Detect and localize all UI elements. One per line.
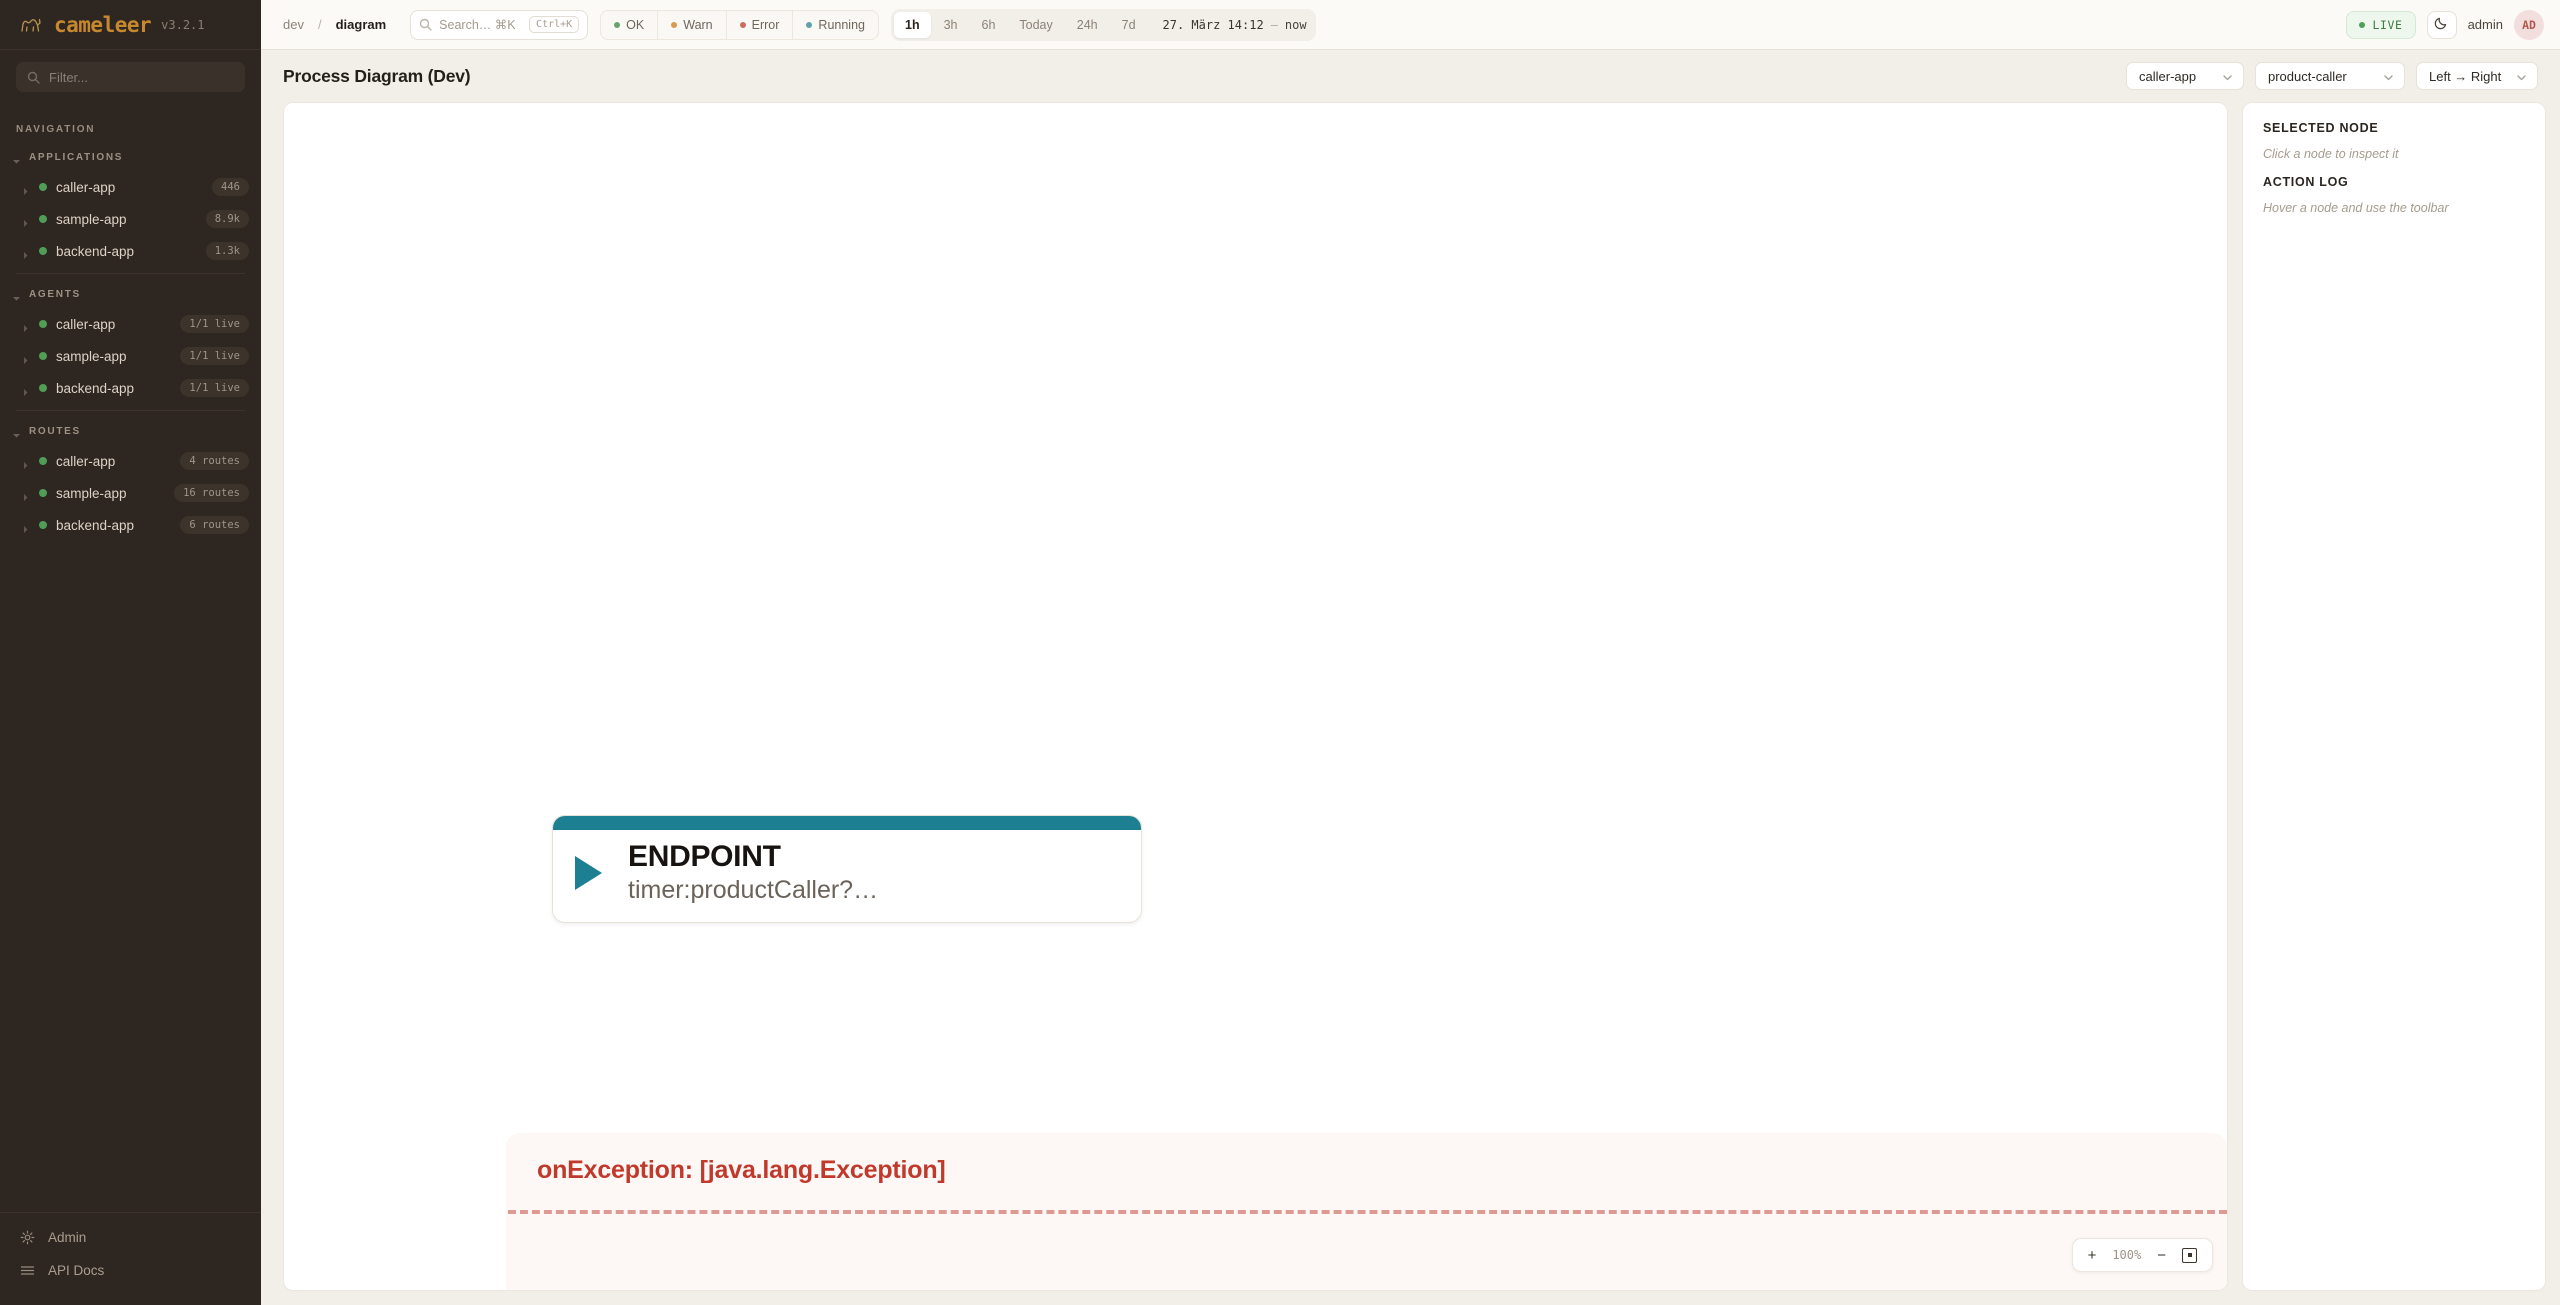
search-icon bbox=[419, 18, 432, 31]
node-accent-bar bbox=[553, 816, 1141, 830]
application-select-value: caller-app bbox=[2139, 69, 2196, 84]
node-kind-label: ENDPOINT bbox=[628, 840, 878, 873]
fit-view-icon[interactable] bbox=[2182, 1248, 2197, 1263]
chevron-down-icon bbox=[2222, 71, 2233, 82]
status-filter-warn[interactable]: Warn bbox=[658, 11, 726, 39]
sidebar-group-applications[interactable]: APPLICATIONS bbox=[0, 143, 261, 171]
sidebar-item-badge: 6 routes bbox=[180, 516, 249, 534]
time-range-group: 1h 3h 6h Today 24h 7d 27. März 14:12 — n… bbox=[891, 9, 1316, 41]
sidebar-nav: NAVIGATION APPLICATIONS caller-app 446 s… bbox=[0, 106, 261, 1212]
search-shortcut-badge: Ctrl+K bbox=[529, 16, 579, 33]
breadcrumb-separator: / bbox=[318, 17, 322, 32]
live-label: LIVE bbox=[2372, 18, 2402, 32]
status-dot bbox=[39, 489, 47, 497]
sidebar: cameleer v3.2.1 NAVIGATION APPLICATIONS … bbox=[0, 0, 261, 1305]
sidebar-item-agent-caller-app[interactable]: caller-app 1/1 live bbox=[0, 308, 261, 340]
page-title: Process Diagram (Dev) bbox=[283, 66, 470, 87]
chevron-right-icon bbox=[21, 384, 30, 393]
live-status-badge[interactable]: LIVE bbox=[2346, 11, 2415, 39]
time-range-24h[interactable]: 24h bbox=[1066, 12, 1109, 38]
sidebar-item-agent-sample-app[interactable]: sample-app 1/1 live bbox=[0, 340, 261, 372]
time-range-today[interactable]: Today bbox=[1008, 12, 1063, 38]
page-title-row: Process Diagram (Dev) caller-app product… bbox=[261, 50, 2560, 102]
sidebar-item-badge: 1/1 live bbox=[180, 347, 249, 365]
sidebar-item-api-docs[interactable]: API Docs bbox=[0, 1254, 261, 1287]
time-range-display[interactable]: 27. März 14:12 — now bbox=[1149, 18, 1313, 32]
status-dot bbox=[39, 215, 47, 223]
chevron-down-icon bbox=[12, 427, 21, 436]
time-range-to: now bbox=[1285, 18, 1307, 32]
chevron-down-icon bbox=[12, 153, 21, 162]
nav-section-title: NAVIGATION bbox=[0, 114, 261, 143]
time-range-6h[interactable]: 6h bbox=[971, 12, 1007, 38]
chevron-right-icon bbox=[21, 320, 30, 329]
status-filter-running[interactable]: Running bbox=[793, 11, 878, 39]
sidebar-item-badge: 1/1 live bbox=[180, 315, 249, 333]
sidebar-item-route-backend-app[interactable]: backend-app 6 routes bbox=[0, 509, 261, 541]
sidebar-item-admin[interactable]: Admin bbox=[0, 1221, 261, 1254]
status-filter-label: Running bbox=[818, 18, 865, 32]
sidebar-item-label: sample-app bbox=[56, 212, 197, 227]
status-dot bbox=[39, 521, 47, 529]
action-log-title: ACTION LOG bbox=[2263, 175, 2525, 189]
status-dot bbox=[39, 320, 47, 328]
status-dot bbox=[2359, 22, 2365, 28]
route-select-value: product-caller bbox=[2268, 69, 2347, 84]
user-name: admin bbox=[2468, 17, 2503, 32]
theme-toggle-button[interactable] bbox=[2427, 11, 2457, 39]
sidebar-item-label: caller-app bbox=[56, 317, 171, 332]
diagram-canvas[interactable]: ENDPOINT timer:productCaller?… onExcepti… bbox=[283, 102, 2228, 1291]
status-dot bbox=[740, 22, 746, 28]
chevron-right-icon bbox=[21, 489, 30, 498]
sidebar-item-label: sample-app bbox=[56, 486, 165, 501]
selected-node-title: SELECTED NODE bbox=[2263, 121, 2525, 135]
sidebar-item-route-sample-app[interactable]: sample-app 16 routes bbox=[0, 477, 261, 509]
status-dot bbox=[39, 183, 47, 191]
chevron-right-icon bbox=[21, 215, 30, 224]
sidebar-footer: Admin API Docs bbox=[0, 1212, 261, 1305]
chevron-down-icon bbox=[2383, 71, 2394, 82]
status-filter-label: Error bbox=[752, 18, 780, 32]
sidebar-item-badge: 8.9k bbox=[206, 210, 249, 228]
selected-node-hint: Click a node to inspect it bbox=[2263, 147, 2525, 161]
chevron-right-icon bbox=[21, 247, 30, 256]
exception-divider bbox=[508, 1210, 2227, 1214]
sidebar-item-label: caller-app bbox=[56, 454, 171, 469]
sidebar-item-label: backend-app bbox=[56, 518, 171, 533]
sidebar-group-agents[interactable]: AGENTS bbox=[0, 280, 261, 308]
sidebar-filter[interactable] bbox=[16, 62, 245, 92]
status-dot bbox=[806, 22, 812, 28]
group-label: APPLICATIONS bbox=[29, 152, 123, 163]
sidebar-item-app-sample-app[interactable]: sample-app 8.9k bbox=[0, 203, 261, 235]
sidebar-item-app-caller-app[interactable]: caller-app 446 bbox=[0, 171, 261, 203]
filter-input[interactable] bbox=[49, 70, 234, 85]
sidebar-item-label: backend-app bbox=[56, 244, 197, 259]
time-range-dash: — bbox=[1271, 18, 1278, 32]
sidebar-item-badge: 1.3k bbox=[206, 242, 249, 260]
chevron-right-icon bbox=[21, 457, 30, 466]
sidebar-item-label: backend-app bbox=[56, 381, 171, 396]
divider bbox=[0, 1212, 261, 1213]
search-icon bbox=[27, 71, 40, 84]
moon-icon bbox=[2434, 15, 2449, 35]
chevron-down-icon bbox=[2516, 71, 2527, 82]
status-filter-group: OK Warn Error Running bbox=[600, 10, 879, 40]
exception-label: onException: [java.lang.Exception] bbox=[537, 1156, 946, 1185]
top-bar: dev / diagram Ctrl+K OK Warn Erro bbox=[261, 0, 2560, 50]
top-bar-right: LIVE admin AD bbox=[2346, 10, 2544, 40]
camel-icon bbox=[18, 12, 44, 38]
breadcrumb-root[interactable]: dev bbox=[283, 17, 304, 32]
content-area: ENDPOINT timer:productCaller?… onExcepti… bbox=[261, 102, 2560, 1305]
inspector-panel: SELECTED NODE Click a node to inspect it… bbox=[2242, 102, 2546, 1291]
time-range-1h[interactable]: 1h bbox=[894, 12, 931, 38]
divider bbox=[16, 410, 245, 411]
status-filter-ok[interactable]: OK bbox=[601, 11, 658, 39]
status-dot bbox=[39, 352, 47, 360]
sidebar-item-route-caller-app[interactable]: caller-app 4 routes bbox=[0, 445, 261, 477]
sidebar-item-badge: 1/1 live bbox=[180, 379, 249, 397]
node-uri-label: timer:productCaller?… bbox=[628, 875, 878, 906]
route-select[interactable]: product-caller bbox=[2255, 62, 2405, 90]
status-filter-label: OK bbox=[626, 18, 644, 32]
play-icon bbox=[575, 856, 602, 890]
time-range-from: 27. März 14:12 bbox=[1163, 18, 1264, 32]
diagram-node-endpoint[interactable]: ENDPOINT timer:productCaller?… bbox=[552, 815, 1142, 923]
breadcrumb-current: diagram bbox=[336, 17, 387, 32]
search-input[interactable] bbox=[439, 18, 522, 32]
gear-icon bbox=[20, 1230, 35, 1245]
zoom-out-button[interactable]: − bbox=[2157, 1248, 2166, 1263]
sidebar-group-routes[interactable]: ROUTES bbox=[0, 417, 261, 445]
chevron-down-icon bbox=[12, 290, 21, 299]
status-filter-error[interactable]: Error bbox=[727, 11, 794, 39]
status-dot bbox=[671, 22, 677, 28]
sidebar-footer-label: API Docs bbox=[48, 1263, 104, 1278]
zoom-in-button[interactable]: + bbox=[2088, 1248, 2097, 1263]
brand-header[interactable]: cameleer v3.2.1 bbox=[0, 0, 261, 50]
sidebar-item-badge: 16 routes bbox=[174, 484, 249, 502]
status-dot bbox=[39, 247, 47, 255]
chevron-right-icon bbox=[21, 183, 30, 192]
sidebar-filter-wrap bbox=[0, 50, 261, 106]
sidebar-item-label: sample-app bbox=[56, 349, 171, 364]
sidebar-item-agent-backend-app[interactable]: backend-app 1/1 live bbox=[0, 372, 261, 404]
chevron-right-icon bbox=[21, 352, 30, 361]
application-select[interactable]: caller-app bbox=[2126, 62, 2244, 90]
status-dot bbox=[39, 457, 47, 465]
main-area: dev / diagram Ctrl+K OK Warn Erro bbox=[261, 0, 2560, 1305]
global-search[interactable]: Ctrl+K bbox=[410, 10, 588, 40]
diagram-controls: caller-app product-caller Left → Right bbox=[2126, 62, 2538, 90]
sidebar-item-app-backend-app[interactable]: backend-app 1.3k bbox=[0, 235, 261, 267]
group-label: AGENTS bbox=[29, 289, 81, 300]
sidebar-footer-label: Admin bbox=[48, 1230, 86, 1245]
sidebar-item-label: caller-app bbox=[56, 180, 203, 195]
direction-select[interactable]: Left → Right bbox=[2416, 62, 2538, 90]
sidebar-item-badge: 4 routes bbox=[180, 452, 249, 470]
status-dot bbox=[614, 22, 620, 28]
zoom-level-label: 100% bbox=[2112, 1248, 2141, 1262]
time-range-3h[interactable]: 3h bbox=[933, 12, 969, 38]
status-dot bbox=[39, 384, 47, 392]
action-log-hint: Hover a node and use the toolbar bbox=[2263, 201, 2525, 215]
list-icon bbox=[20, 1263, 35, 1278]
divider bbox=[16, 273, 245, 274]
brand-name: cameleer bbox=[54, 13, 151, 37]
avatar[interactable]: AD bbox=[2514, 10, 2544, 40]
brand-version: v3.2.1 bbox=[161, 18, 204, 32]
sidebar-item-badge: 446 bbox=[212, 178, 249, 196]
group-label: ROUTES bbox=[29, 426, 81, 437]
chevron-right-icon bbox=[21, 521, 30, 530]
node-body: ENDPOINT timer:productCaller?… bbox=[553, 830, 1141, 922]
direction-select-value: Left → Right bbox=[2429, 69, 2501, 84]
time-range-7d[interactable]: 7d bbox=[1111, 12, 1147, 38]
status-filter-label: Warn bbox=[683, 18, 712, 32]
zoom-control: + 100% − bbox=[2072, 1238, 2213, 1272]
